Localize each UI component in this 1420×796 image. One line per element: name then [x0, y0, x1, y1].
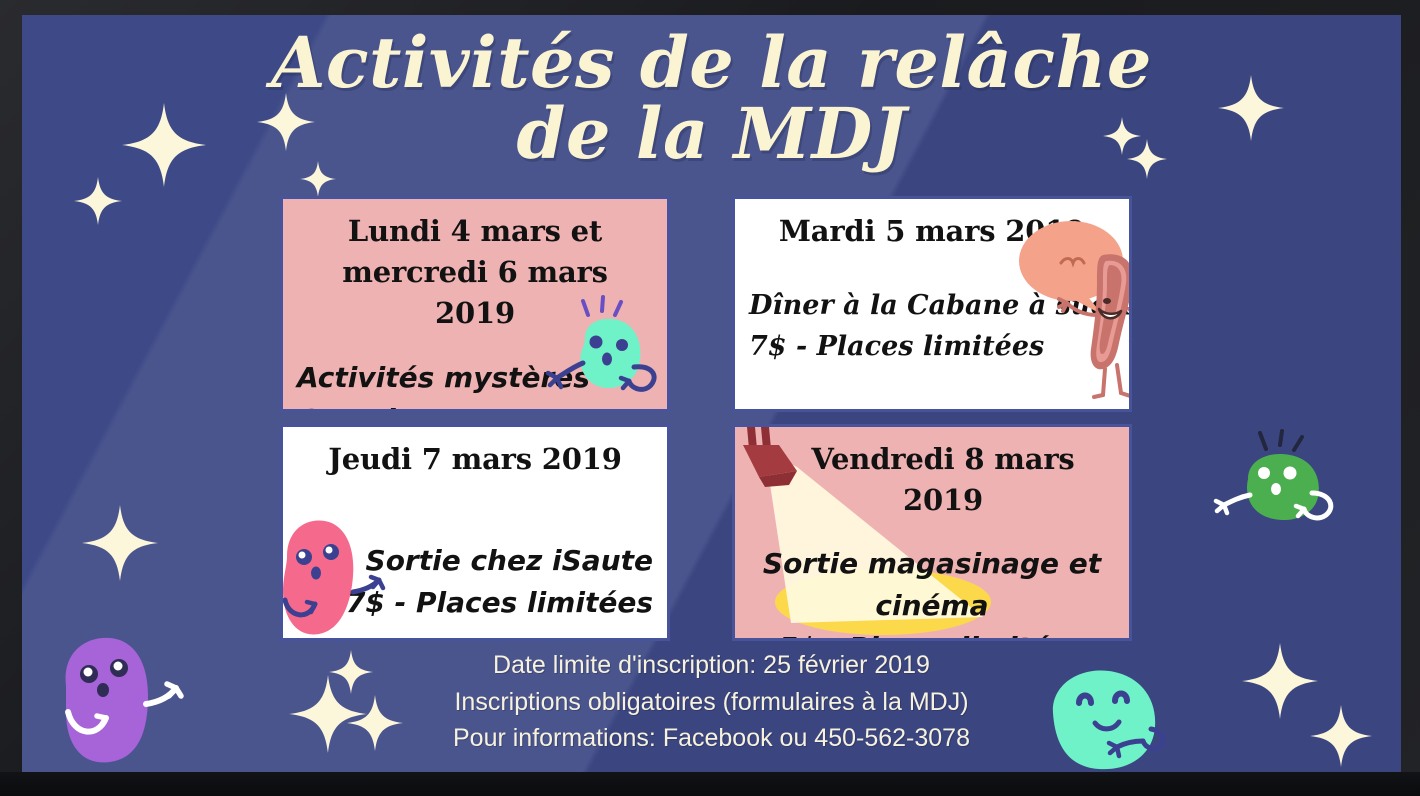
page-title: Activités de la relâche de la MDJ [22, 27, 1401, 170]
activity-card-vendredi[interactable]: Vendredi 8 mars 2019 Sortie magasinage e… [732, 424, 1132, 641]
card-heading: Jeudi 7 mars 2019 [301, 439, 649, 480]
sparkle-icon [82, 505, 158, 581]
pink-blob-icon [280, 504, 401, 641]
card-line: 5$ - Places limitées [735, 627, 1129, 641]
activity-card-jeudi[interactable]: Jeudi 7 mars 2019 Sortie chez iSaute 7$ … [280, 424, 670, 641]
monitor-bezel: Activités de la relâche de la MDJ Lundi … [0, 0, 1420, 796]
activity-card-lundi[interactable]: Lundi 4 mars et mercredi 6 mars 2019 Act… [280, 196, 670, 412]
footer-deadline: Date limite d'inscription: 25 février 20… [22, 647, 1401, 683]
card-body: Sortie magasinage et cinéma 5$ - Places … [735, 543, 1129, 641]
footer-info: Date limite d'inscription: 25 février 20… [22, 647, 1401, 756]
poster-canvas: Activités de la relâche de la MDJ Lundi … [22, 15, 1401, 772]
footer-contact: Pour informations: Facebook ou 450-562-3… [22, 720, 1401, 756]
card-line: Sortie magasinage et [735, 543, 1129, 585]
footer-registration: Inscriptions obligatoires (formulaires à… [22, 684, 1401, 720]
green-blob-icon [1208, 427, 1340, 537]
sparkle-icon [74, 177, 122, 225]
activity-card-mardi[interactable]: Mardi 5 mars 2019 Dîner à la Cabane à su… [732, 196, 1132, 412]
card-line: cinéma [735, 585, 1129, 627]
mint-blob-icon [539, 293, 661, 405]
card-heading: Vendredi 8 mars 2019 [775, 439, 1111, 521]
bacon-character-icon [1011, 217, 1132, 407]
